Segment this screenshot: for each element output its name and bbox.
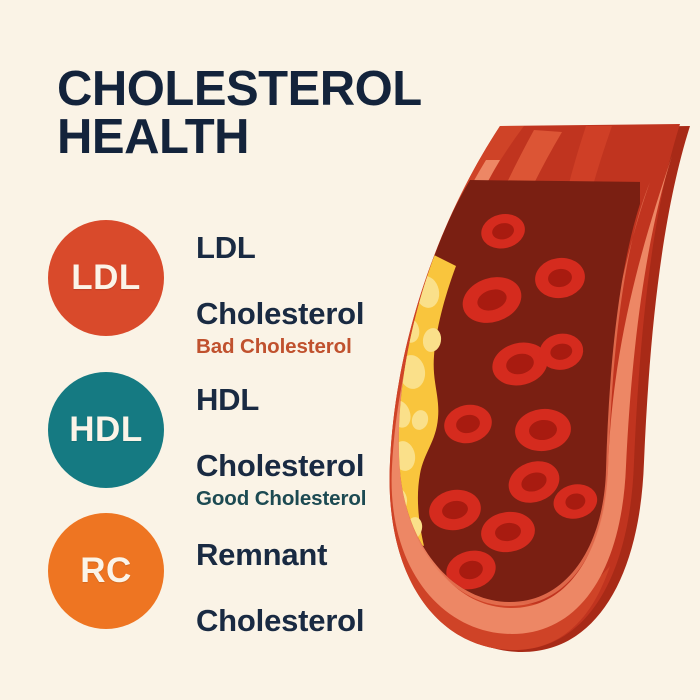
legend-title-ldl: LDL Cholesterol [196, 198, 364, 331]
badge-ldl: LDL [48, 220, 164, 336]
legend-title-line1-hdl: HDL [196, 383, 259, 416]
infographic-poster: Cholesterol Health LDL LDL Cholesterol B… [0, 0, 700, 700]
legend-title-line2-ldl: Cholesterol [196, 297, 364, 330]
legend-text-hdl: HDL Cholesterol Good Cholesterol [196, 350, 366, 511]
legend-item-ldl[interactable]: LDL LDL Cholesterol Bad Cholesterol [48, 198, 364, 359]
legend-item-rc[interactable]: RC Remnant Cholesterol [48, 505, 364, 638]
legend-list: LDL LDL Cholesterol Bad Cholesterol HDL … [0, 0, 700, 700]
legend-title-line1-rc: Remnant [196, 538, 327, 571]
badge-hdl: HDL [48, 372, 164, 488]
legend-title-line2-hdl: Cholesterol [196, 449, 364, 482]
legend-title-line1-ldl: LDL [196, 231, 256, 264]
legend-text-ldl: LDL Cholesterol Bad Cholesterol [196, 198, 364, 359]
legend-title-hdl: HDL Cholesterol [196, 350, 366, 483]
badge-rc: RC [48, 513, 164, 629]
legend-text-rc: Remnant Cholesterol [196, 505, 364, 638]
legend-item-hdl[interactable]: HDL HDL Cholesterol Good Cholesterol [48, 350, 366, 511]
legend-title-rc: Remnant Cholesterol [196, 505, 364, 638]
legend-title-line2-rc: Cholesterol [196, 604, 364, 637]
